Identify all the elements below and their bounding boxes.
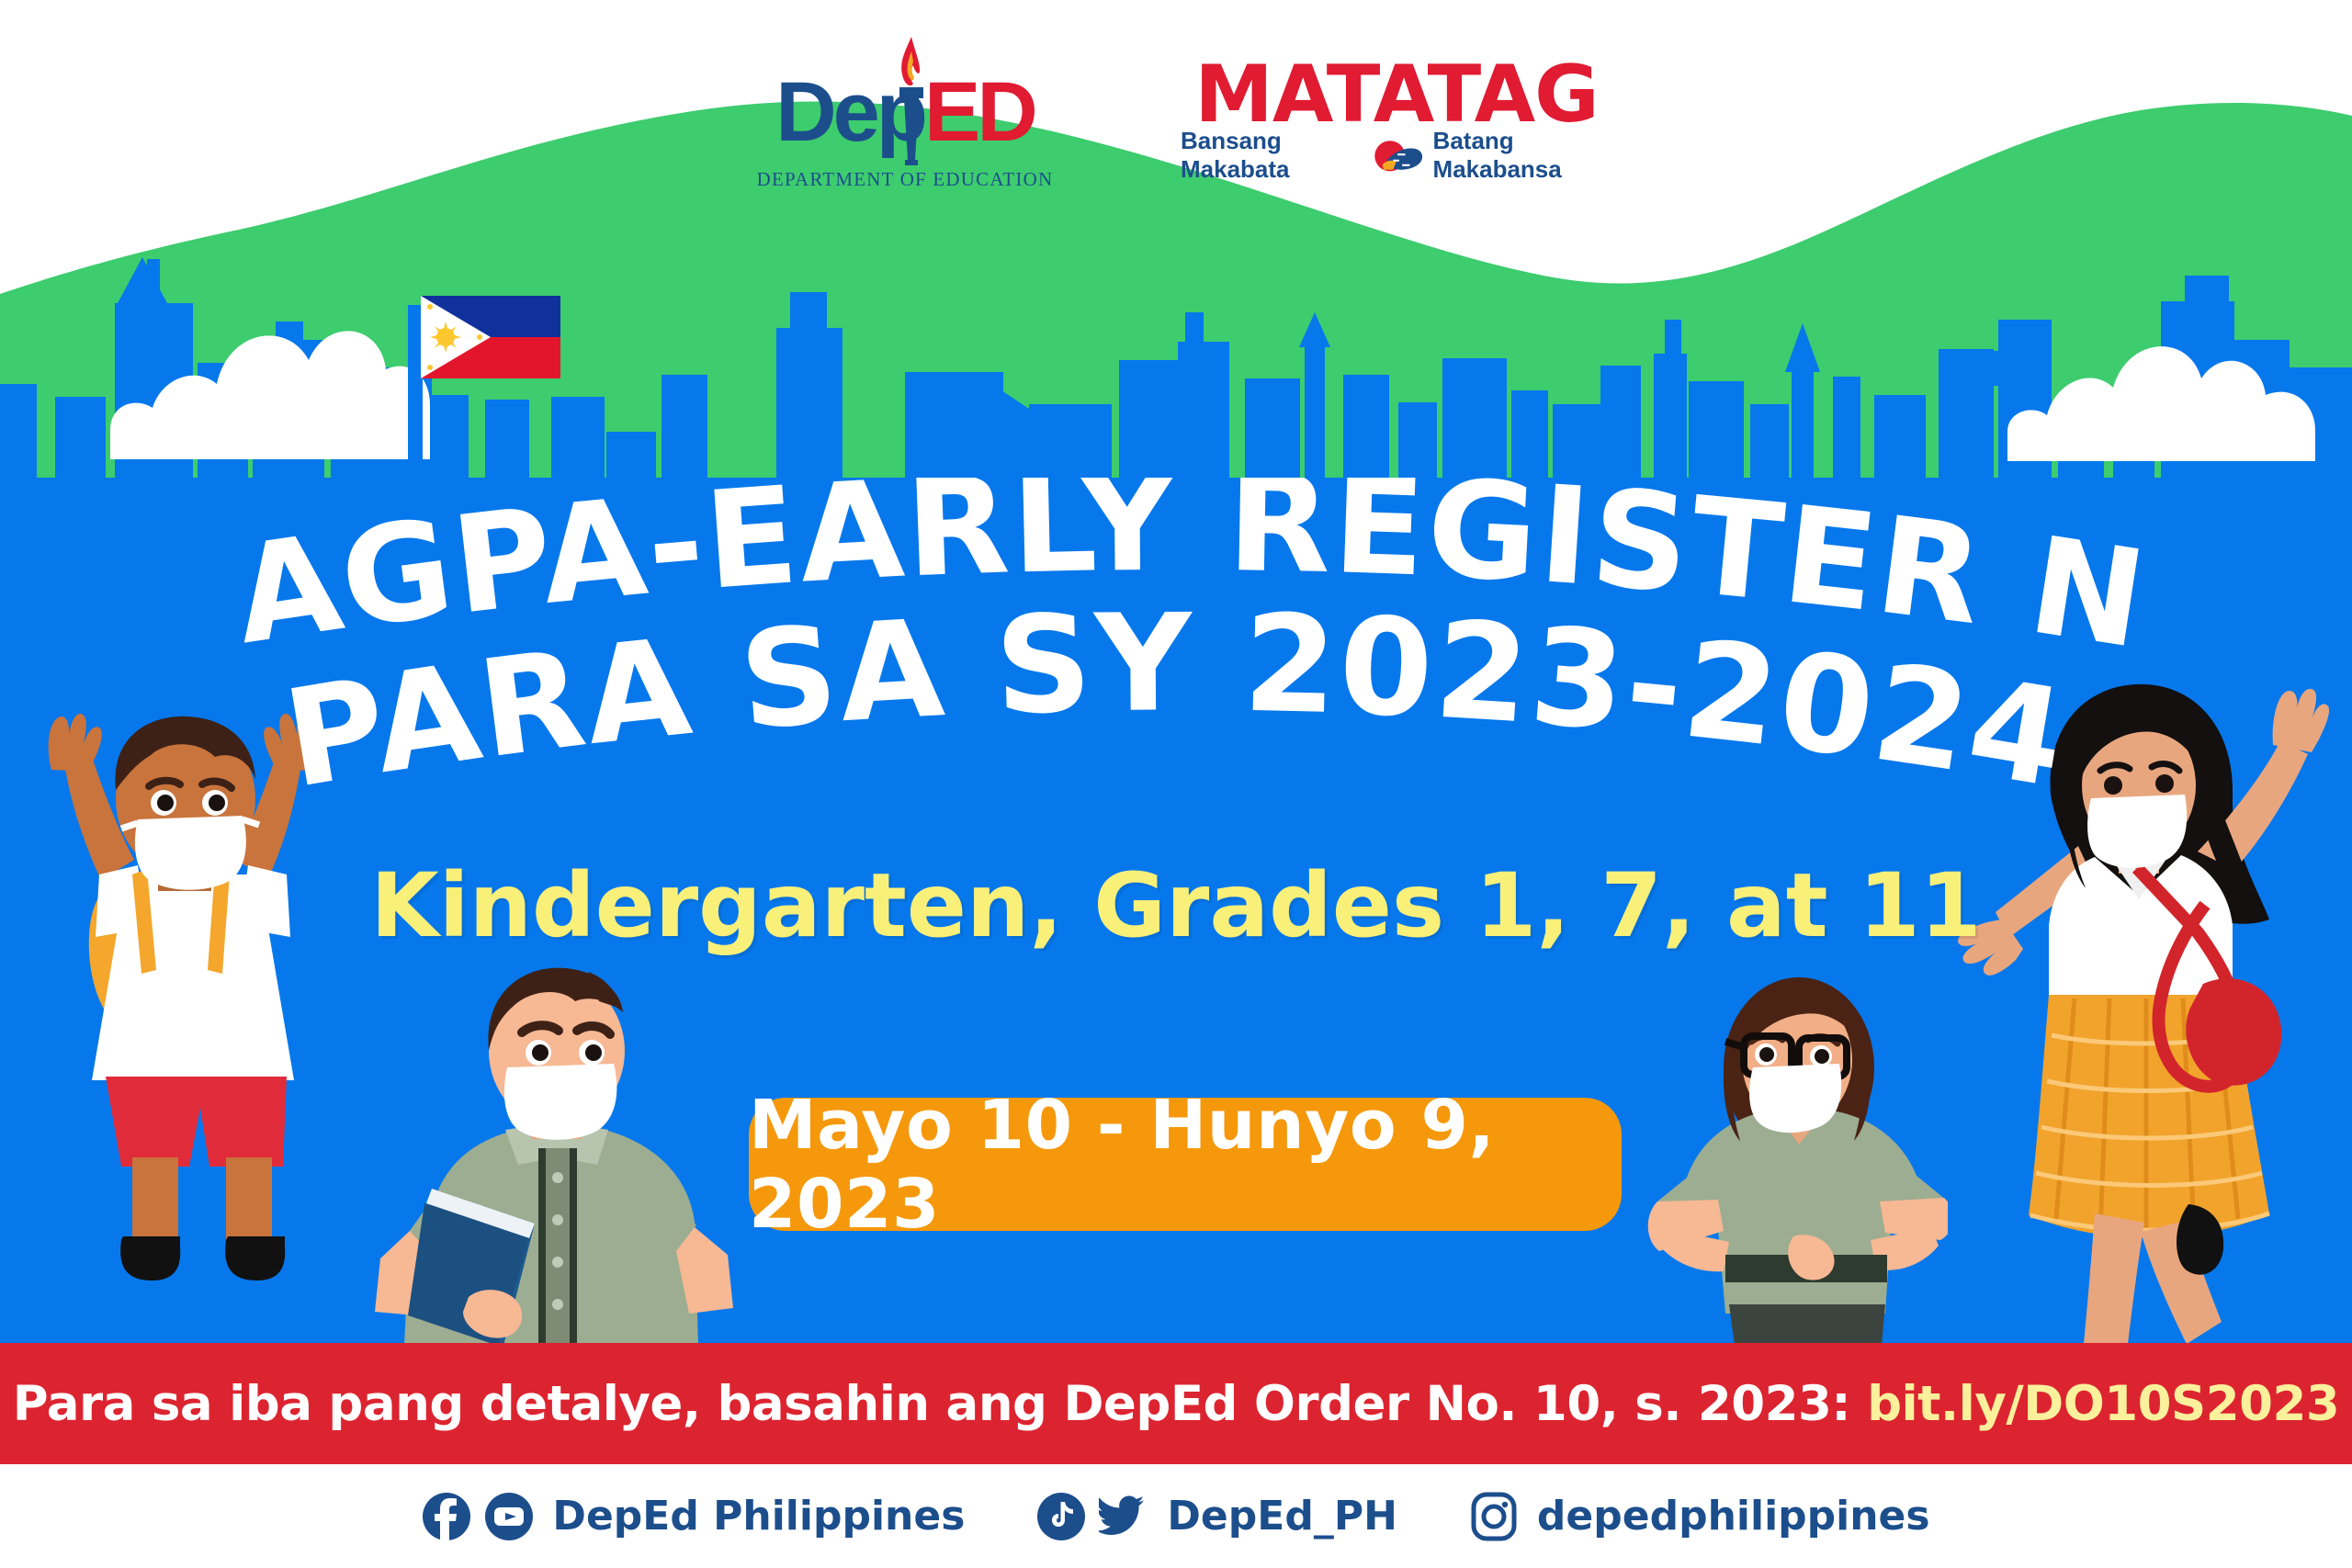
social-handle-instagram[interactable]: depedphilippines (1537, 1493, 1930, 1540)
social-handle-twitter[interactable]: DepEd_PH (1167, 1493, 1397, 1540)
sling-bag-icon (2186, 978, 2281, 1086)
details-banner-prefix: Para sa iba pang detalye, basahin ang De… (13, 1376, 1867, 1432)
details-banner: Para sa iba pang detalye, basahin ang De… (0, 1343, 2352, 1464)
social-group-tiktok-twitter: DepEd_PH (1036, 1492, 1397, 1541)
matatag-tagline-left: Bansang Makabata (1181, 127, 1360, 184)
subhead-grade-levels: Kindergarten, Grades 1, 7, at 11 (0, 854, 2352, 957)
social-group-facebook-youtube: DepEd Philippines (422, 1492, 965, 1541)
heart-hands-icon (1367, 134, 1425, 176)
registration-date-label: Mayo 10 - Hunyo 9, 2023 (749, 1086, 1622, 1244)
poster-root: MAGPA-EARLY REGISTER NA PARA SA SY 2023-… (0, 0, 2352, 1568)
student-girl-with-skirt (1957, 657, 2352, 1346)
student-boy-with-book (367, 955, 735, 1346)
details-banner-text: Para sa iba pang detalye, basahin ang De… (13, 1376, 2339, 1432)
registration-date-badge: Mayo 10 - Hunyo 9, 2023 (749, 1098, 1622, 1231)
deped-logo: DepED DEPARTMENT OF EDUCATION (740, 37, 1070, 193)
deped-subtitle: DEPARTMENT OF EDUCATION (740, 168, 1070, 191)
logo-row: DepED DEPARTMENT OF EDUCATION MATATAG Ba… (0, 0, 2352, 230)
twitter-icon[interactable] (1099, 1492, 1148, 1541)
matatag-tagline: Bansang Makabata Batang Makabansa (1181, 127, 1612, 184)
student-boy-with-backpack (18, 698, 367, 1304)
details-banner-link[interactable]: bit.ly/DO10S2023 (1867, 1376, 2339, 1432)
matatag-tagline-right: Batang Makabansa (1433, 127, 1612, 184)
facebook-icon[interactable] (422, 1492, 471, 1541)
torch-icon (898, 33, 925, 171)
flag-pole (408, 305, 423, 478)
social-footer: DepEd Philippines DepEd_PH depedphilippi… (0, 1464, 2352, 1568)
social-handle-facebook[interactable]: DepEd Philippines (552, 1493, 965, 1540)
face-mask-icon (504, 1064, 616, 1140)
matatag-logo: MATATAG Bansang Makabata Batang Makabans… (1181, 46, 1612, 184)
student-girl-with-glasses (1645, 964, 1948, 1346)
matatag-wordmark: MATATAG (1181, 55, 1612, 134)
deped-word-ed: ED (924, 65, 1035, 159)
tiktok-icon[interactable] (1036, 1492, 1086, 1541)
instagram-icon[interactable] (1469, 1492, 1519, 1541)
youtube-icon[interactable] (484, 1492, 534, 1541)
social-group-instagram: depedphilippines (1469, 1492, 1930, 1541)
